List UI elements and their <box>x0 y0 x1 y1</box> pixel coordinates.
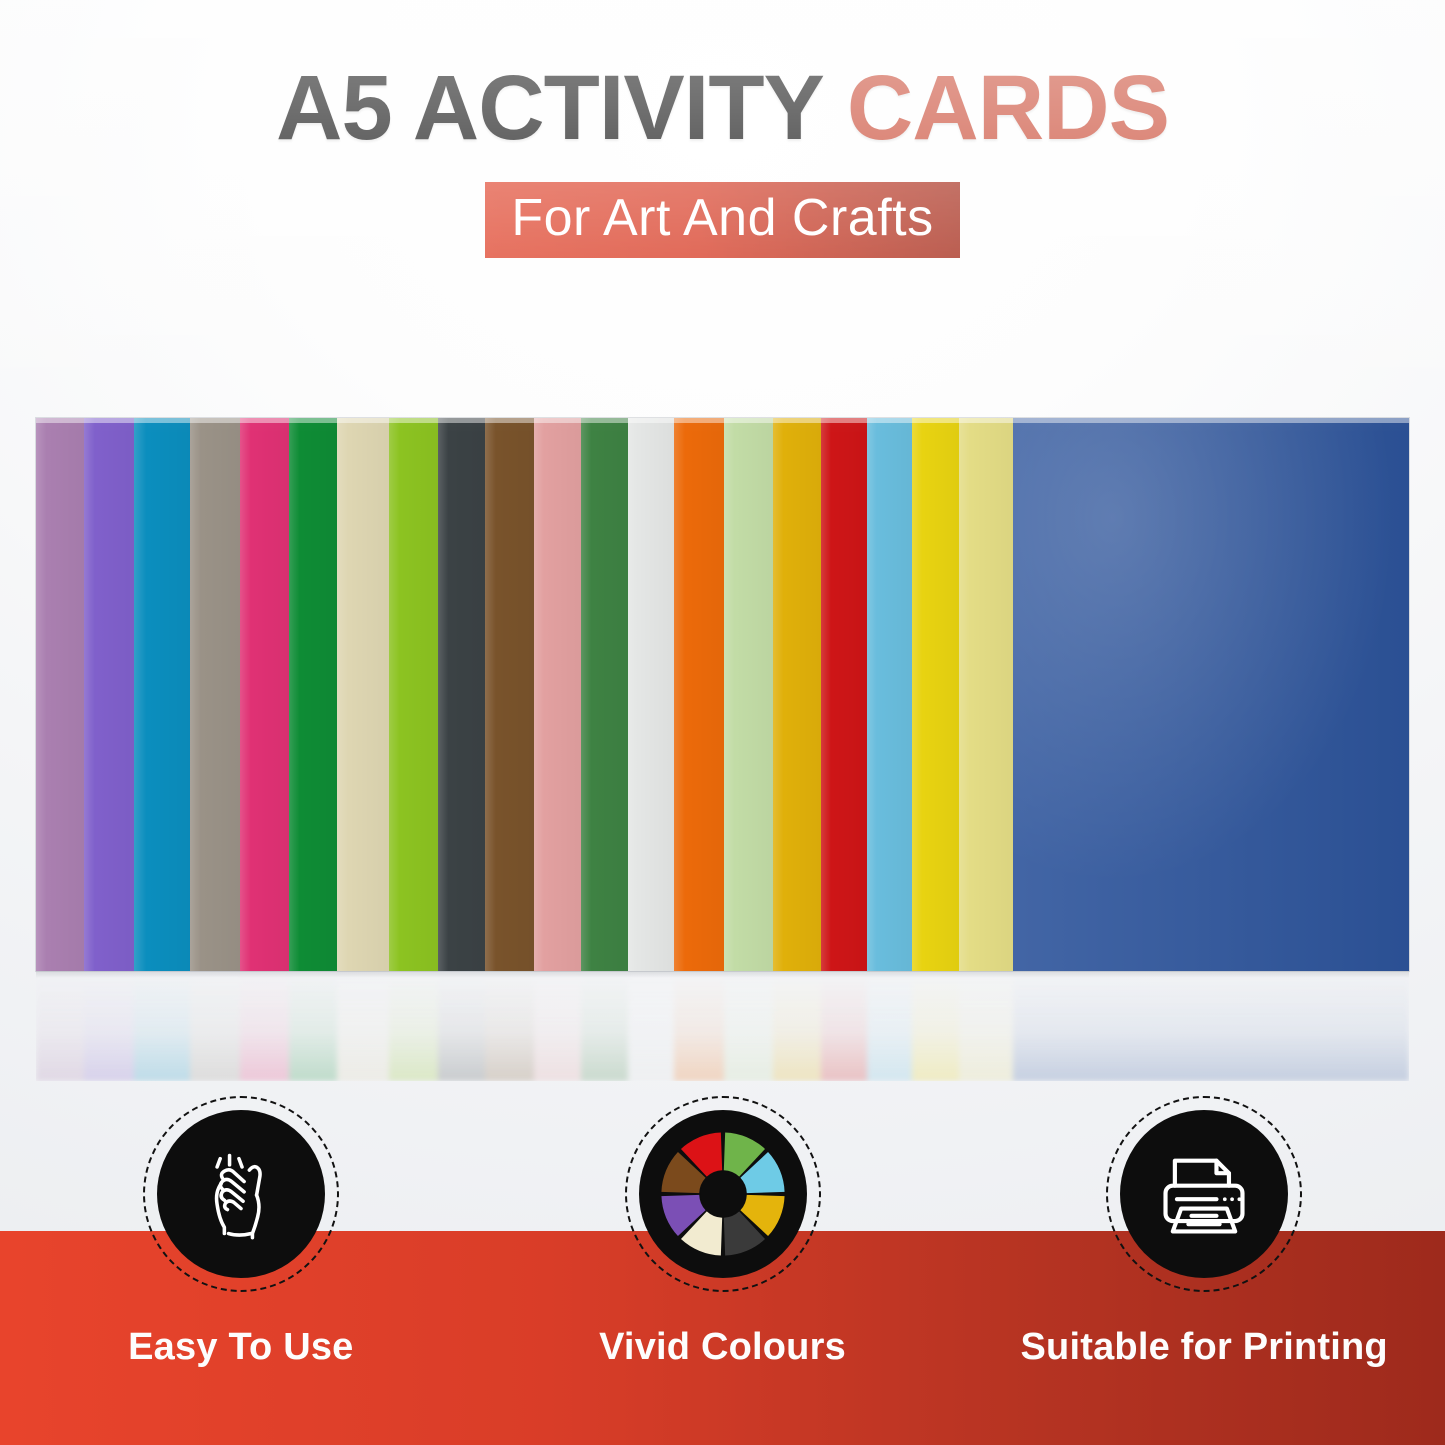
card-stripe-white <box>628 418 675 971</box>
card-stripe-mauve <box>36 418 84 971</box>
feature-label: Vivid Colours <box>599 1326 846 1369</box>
feature-badge <box>1106 1096 1302 1292</box>
card-stripe-forest-green <box>581 418 628 971</box>
card-stripe-warm-grey <box>190 418 241 971</box>
card-stripe-magenta-pink <box>240 418 289 971</box>
card-stripe-lime-green <box>389 971 439 1081</box>
card-stripe-violet <box>84 418 135 971</box>
card-stripe-orange <box>674 418 724 971</box>
card-stripe-cyan-blue <box>134 971 190 1081</box>
feature-label: Easy To Use <box>128 1326 353 1369</box>
feature-easy-to-use: Easy To Use <box>0 1096 482 1445</box>
card-stripe-orange <box>674 971 724 1081</box>
feature-badge <box>625 1096 821 1292</box>
card-stripe-pale-yellow <box>959 418 1014 971</box>
card-stripe-violet <box>84 971 135 1081</box>
card-stripe-royal-blue <box>1013 971 1409 1081</box>
card-stripe-green <box>289 418 338 971</box>
card-stripe-pale-green <box>724 971 774 1081</box>
card-stripe-yellow <box>912 971 959 1081</box>
card-stripe-pale-yellow <box>959 971 1014 1081</box>
card-stripe-dark-slate <box>438 971 485 1081</box>
card-stripe-yellow <box>912 418 959 971</box>
card-stripe-forest-green <box>581 971 628 1081</box>
feature-label: Suitable for Printing <box>1021 1326 1388 1369</box>
card-stripe-light-blue <box>867 971 913 1081</box>
feature-vivid-colours: Vivid Colours <box>482 1096 964 1445</box>
product-image-card-stack <box>36 418 1409 971</box>
card-stripe-dusty-pink <box>534 418 582 971</box>
card-stripe-lime-green <box>389 418 439 971</box>
card-stripe-brown <box>485 418 534 971</box>
feature-suitable-for-printing: Suitable for Printing <box>963 1096 1445 1445</box>
card-stripe-cream <box>337 971 389 1081</box>
card-stripe-royal-blue <box>1013 418 1409 971</box>
card-stripe-light-blue <box>867 418 913 971</box>
card-stripe-magenta-pink <box>240 971 289 1081</box>
card-stripe-green <box>289 971 338 1081</box>
card-stripe-red <box>821 971 867 1081</box>
card-stripe-brown <box>485 971 534 1081</box>
product-reflection <box>36 971 1409 1081</box>
title-primary: A5 ACTIVITY <box>276 57 822 159</box>
infographic-page: A5 ACTIVITY CARDS For Art And Crafts <box>0 0 1445 1445</box>
feature-row: Easy To Use Vivid Colours <box>0 1096 1445 1445</box>
card-stripe-dusty-pink <box>534 971 582 1081</box>
card-stripe-white <box>628 971 675 1081</box>
dashed-ring <box>1106 1096 1302 1292</box>
card-stripe-warm-grey <box>190 971 241 1081</box>
subtitle-banner: For Art And Crafts <box>485 182 959 258</box>
header: A5 ACTIVITY CARDS For Art And Crafts <box>0 0 1445 300</box>
card-stripe-cream <box>337 418 389 971</box>
card-stripe-golden-yellow <box>773 418 821 971</box>
card-stripe-golden-yellow <box>773 971 821 1081</box>
card-stripe-red <box>821 418 867 971</box>
feature-badge <box>143 1096 339 1292</box>
page-title: A5 ACTIVITY CARDS <box>276 62 1169 154</box>
card-stripe-dark-slate <box>438 418 485 971</box>
title-accent: CARDS <box>847 57 1169 159</box>
subtitle-text: For Art And Crafts <box>511 192 933 244</box>
dashed-ring <box>625 1096 821 1292</box>
card-stripe-mauve <box>36 971 84 1081</box>
card-stripe-cyan-blue <box>134 418 190 971</box>
dashed-ring <box>143 1096 339 1292</box>
card-stripe-pale-green <box>724 418 774 971</box>
